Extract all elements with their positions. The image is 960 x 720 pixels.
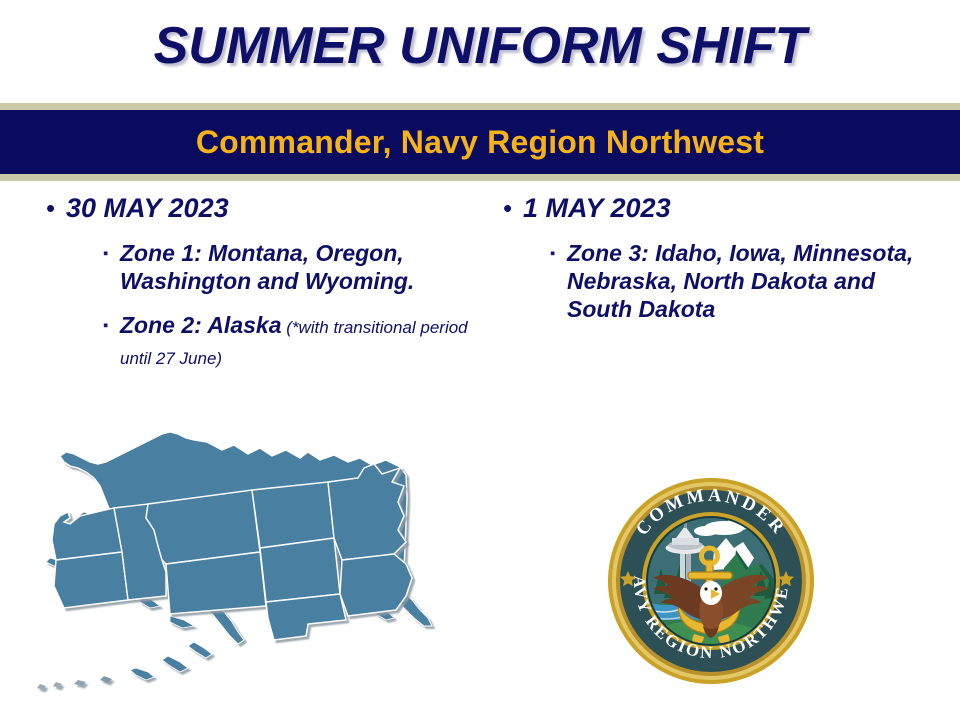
banner: Commander, Navy Region Northwest: [0, 103, 960, 181]
state-north-dakota: [252, 482, 334, 548]
bullet-square-icon: ▪: [550, 239, 567, 269]
zone-item-label: Zone 3: Idaho, Iowa, Minnesota, Nebraska…: [567, 239, 939, 323]
bullet-dot-icon: •: [497, 192, 523, 224]
state-iowa: [340, 554, 412, 616]
zone-item-3: ▪ Zone 3: Idaho, Iowa, Minnesota, Nebras…: [497, 239, 947, 323]
navy-region-northwest-seal: COMMANDER NAVY REGION NORTHWEST: [606, 476, 816, 686]
content-column-right: • 1 MAY 2023 ▪ Zone 3: Idaho, Iowa, Minn…: [497, 192, 947, 339]
page-title: SUMMER UNIFORM SHIFT: [0, 14, 960, 78]
state-nebraska: [266, 594, 346, 640]
zone-item-label: Zone 1: Montana, Oregon, Washington and …: [120, 239, 482, 295]
date-heading-1-may: • 1 MAY 2023: [497, 192, 947, 225]
bullet-square-icon: ▪: [103, 311, 120, 341]
banner-title: Commander, Navy Region Northwest: [196, 124, 764, 161]
slide-canvas: SUMMER UNIFORM SHIFT Commander, Navy Reg…: [0, 0, 960, 720]
content-column-left: • 30 MAY 2023 ▪ Zone 1: Montana, Oregon,…: [40, 192, 490, 389]
bullet-square-icon: ▪: [103, 239, 120, 269]
date-heading-label: 30 MAY 2023: [66, 192, 229, 225]
state-oregon: [54, 552, 128, 608]
state-south-dakota: [260, 538, 340, 602]
bullet-dot-icon: •: [40, 192, 66, 224]
zone-item-main-text: Zone 2: Alaska: [120, 312, 281, 338]
zone-item-label: Zone 2: Alaska (*with transitional perio…: [120, 311, 482, 373]
state-washington: [52, 508, 122, 560]
zone-item-1: ▪ Zone 1: Montana, Oregon, Washington an…: [40, 239, 490, 295]
us-states-map: [8, 420, 528, 705]
date-heading-30-may: • 30 MAY 2023: [40, 192, 490, 225]
zone-item-2: ▪ Zone 2: Alaska (*with transitional per…: [40, 311, 490, 373]
date-heading-label: 1 MAY 2023: [523, 192, 671, 225]
